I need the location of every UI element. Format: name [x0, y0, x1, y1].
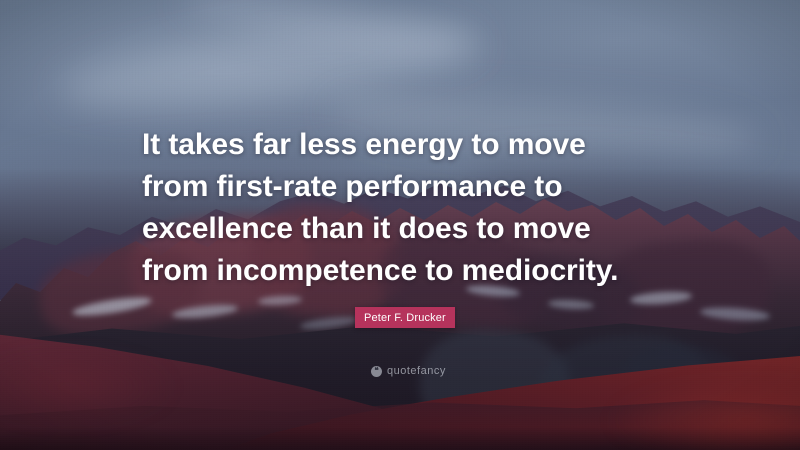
quotefancy-watermark: ❝ quotefancy [371, 365, 446, 377]
poster-content: It takes far less energy to move from fi… [0, 0, 800, 450]
author-badge: Peter F. Drucker [355, 307, 455, 328]
quote-mark-icon: ❝ [371, 366, 382, 377]
quote-text: It takes far less energy to move from fi… [142, 124, 682, 292]
author-name: Peter F. Drucker [364, 312, 446, 324]
quote-poster: It takes far less energy to move from fi… [0, 0, 800, 450]
watermark-brand-label: quotefancy [387, 365, 446, 377]
